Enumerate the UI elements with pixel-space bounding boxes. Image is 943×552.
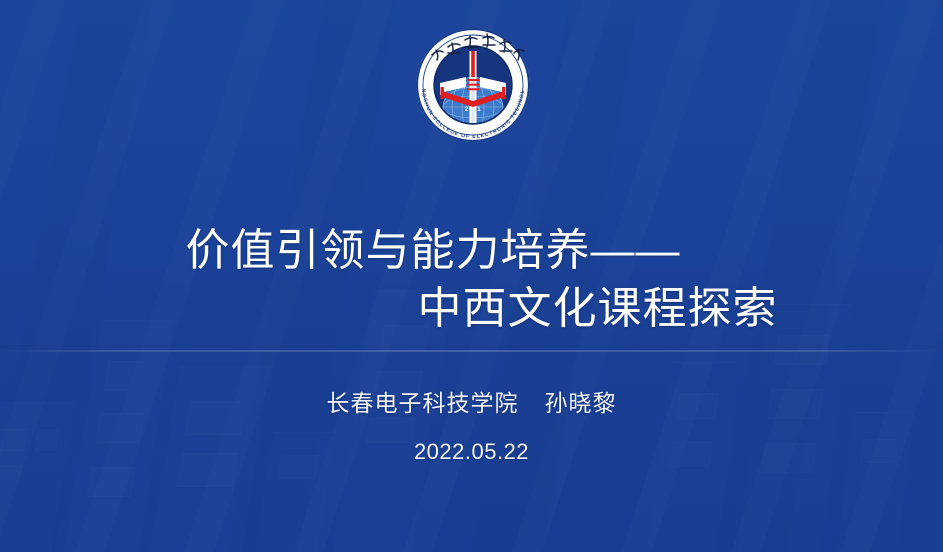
- logo-year: 2001: [465, 106, 482, 113]
- presenter-name: 孙晓黎: [545, 390, 617, 416]
- presentation-date: 2022.05.22: [0, 438, 943, 466]
- title-line-2: 中西文化课程探索: [152, 280, 792, 338]
- institution-name: 长春电子科技学院: [327, 390, 519, 416]
- title-line-1: 价值引领与能力培养——: [152, 222, 792, 280]
- subtitle-line: 长春电子科技学院孙晓黎: [0, 388, 943, 418]
- slide-title: 价值引领与能力培养—— 中西文化课程探索: [0, 222, 943, 338]
- title-slide: 2001 CHANGC: [0, 0, 943, 552]
- horizontal-divider-line: [0, 350, 943, 352]
- college-logo: 2001 CHANGC: [402, 25, 544, 143]
